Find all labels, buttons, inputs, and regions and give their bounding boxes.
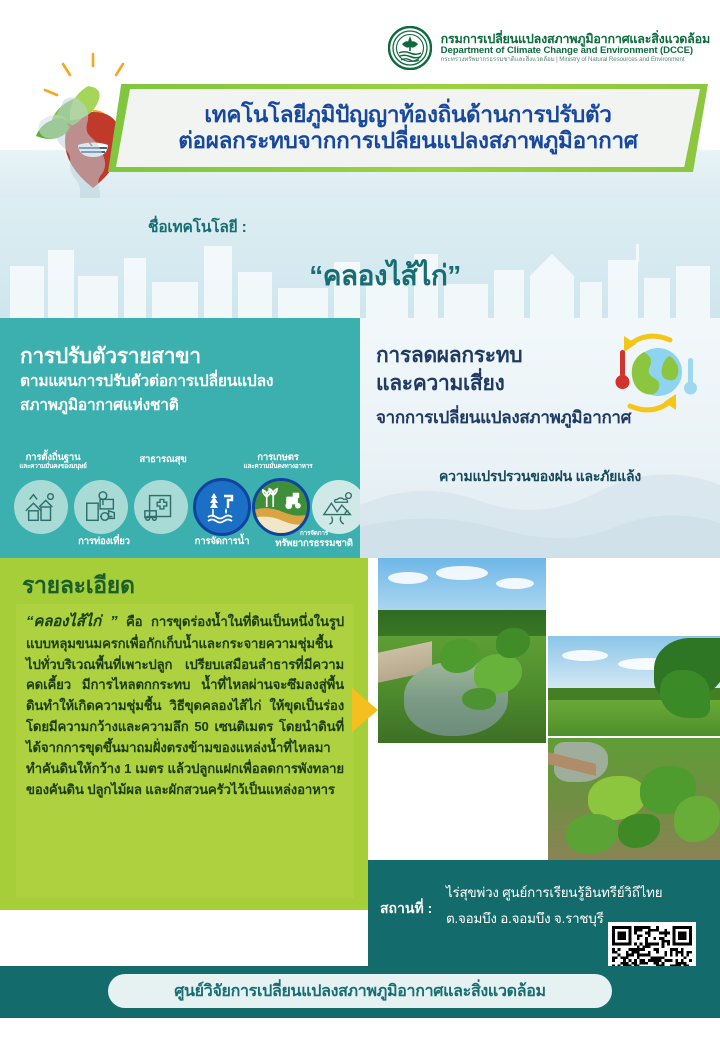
mitigation-heading-line1: การลดผลกระทบ	[376, 344, 522, 367]
footer-text: ศูนย์วิจัยการเปลี่ยนแปลงสภาพภูมิอากาศและ…	[174, 979, 546, 1004]
footer-white-strip	[0, 1018, 720, 1040]
poster-title-line2: ต่อผลกระทบจากการเปลี่ยนแปลงสภาพภูมิอากาศ	[178, 128, 638, 154]
sector-label-water-management: การจัดการน้ำ	[176, 536, 268, 547]
detail-paragraph: “คลองไส้ไก่ ” คือ การขุดร่องน้ำในที่ดินเ…	[26, 610, 344, 801]
detail-text-box: “คลองไส้ไก่ ” คือ การขุดร่องน้ำในที่ดินเ…	[16, 604, 354, 898]
photo-field-view	[548, 636, 720, 736]
sector-label-natural-resources: การจัดการ ทรัพยากรธรรมชาติ	[268, 530, 360, 549]
sector-label-tourism: การท่องเที่ยว	[58, 536, 150, 547]
location-line1: ไร่สุขพ่วง ศูนย์การเรียนรู้อินทรีย์วิถีไ…	[446, 882, 662, 903]
tech-name-label: ชื่อเทคโนโลยี :	[148, 214, 247, 239]
detail-heading: รายละเอียด	[22, 568, 135, 604]
mitigation-heading: การลดผลกระทบ และความเสี่ยง	[376, 342, 522, 397]
ministry-name: กระทรวงทรัพยากรธรรมชาติและสิ่งแวดล้อม | …	[441, 57, 710, 64]
adaptation-subheading-line2: สภาพภูมิอากาศแห่งชาติ	[20, 397, 179, 414]
sector-label-settlement: การตั้งถิ่นฐาน และความมั่นคงของมนุษย์	[4, 452, 102, 471]
sector-icon-public-health[interactable]	[134, 480, 188, 534]
sector-icon-settlement[interactable]	[14, 480, 68, 534]
mitigation-subheading: จากการเปลี่ยนแปลงสภาพภูมิอากาศ	[376, 404, 631, 431]
dcce-logo-icon	[388, 26, 432, 70]
sector-label-public-health: สาธารณสุข	[118, 454, 208, 465]
dcce-name-thai: กรมการเปลี่ยนแปลงสภาพภูมิอากาศและสิ่งแวด…	[441, 32, 710, 46]
poster-root: กรมการเปลี่ยนแปลงสภาพภูมิอากาศและสิ่งแวด…	[0, 0, 720, 1040]
yellow-arrow-icon	[352, 688, 378, 732]
adaptation-subheading: ตามแผนการปรับตัวต่อการเปลี่ยนแปลง สภาพภู…	[20, 370, 350, 417]
sector-icon-water-management[interactable]	[193, 478, 251, 536]
thermometer-hot	[616, 350, 630, 389]
sector-icon-agriculture[interactable]	[252, 478, 310, 536]
technology-name-band: ชื่อเทคโนโลยี : “คลองไส้ไก่”	[0, 198, 720, 318]
poster-title-line1: เทคโนโลยีภูมิปัญญาท้องถิ่นด้านการปรับตัว	[204, 102, 611, 128]
detail-section: รายละเอียด “คลองไส้ไก่ ” คือ การขุดร่องน…	[0, 558, 368, 910]
tech-name-value: “คลองไส้ไก่”	[0, 254, 720, 298]
location-label: สถานที่ :	[380, 898, 432, 920]
location-line2: ต.จอมบึง อ.จอมบึง จ.ราชบุรี	[446, 908, 604, 929]
photo-klong-sai-kai-channel	[378, 558, 546, 743]
photo-banana-planting	[548, 738, 720, 860]
dcce-branding: กรมการเปลี่ยนแปลงสภาพภูมิอากาศและสิ่งแวด…	[388, 26, 710, 70]
poster-header: กรมการเปลี่ยนแปลงสภาพภูมิอากาศและสิ่งแวด…	[0, 0, 720, 198]
detail-body-text: คือ การขุดร่องน้ำในที่ดินเป็นหนึ่งในรูปแ…	[26, 614, 344, 797]
adaptation-subheading-line1: ตามแผนการปรับตัวต่อการเปลี่ยนแปลง	[20, 373, 273, 390]
sector-icon-natural-resources[interactable]	[312, 480, 366, 534]
detail-lead-term: “คลองไส้ไก่ ”	[26, 613, 117, 630]
mitigation-note: ความแปรปรวนของฝน และภัยแล้ง	[360, 466, 720, 488]
sector-icon-tourism[interactable]	[74, 480, 128, 534]
thermometer-cold	[684, 358, 697, 395]
globe-thermometer-icon	[602, 330, 698, 416]
sector-label-agriculture: การเกษตร และความมั่นคงทางอาหาร	[228, 452, 328, 471]
footer-pill: ศูนย์วิจัยการเปลี่ยนแปลงสภาพภูมิอากาศและ…	[108, 974, 612, 1008]
poster-footer: ศูนย์วิจัยการเปลี่ยนแปลงสภาพภูมิอากาศและ…	[0, 966, 720, 1018]
adaptation-heading: การปรับตัวรายสาขา	[20, 340, 201, 373]
mitigation-heading-line2: และความเสี่ยง	[376, 372, 504, 395]
sector-icon-row: การตั้งถิ่นฐาน และความมั่นคงของมนุษย์ สา…	[0, 452, 360, 558]
mitigation-panel: การลดผลกระทบ และความเสี่ยง จากการเปลี่ยน…	[360, 318, 720, 558]
title-ribbon: เทคโนโลยีภูมิปัญญาท้องถิ่นด้านการปรับตัว…	[108, 84, 708, 172]
